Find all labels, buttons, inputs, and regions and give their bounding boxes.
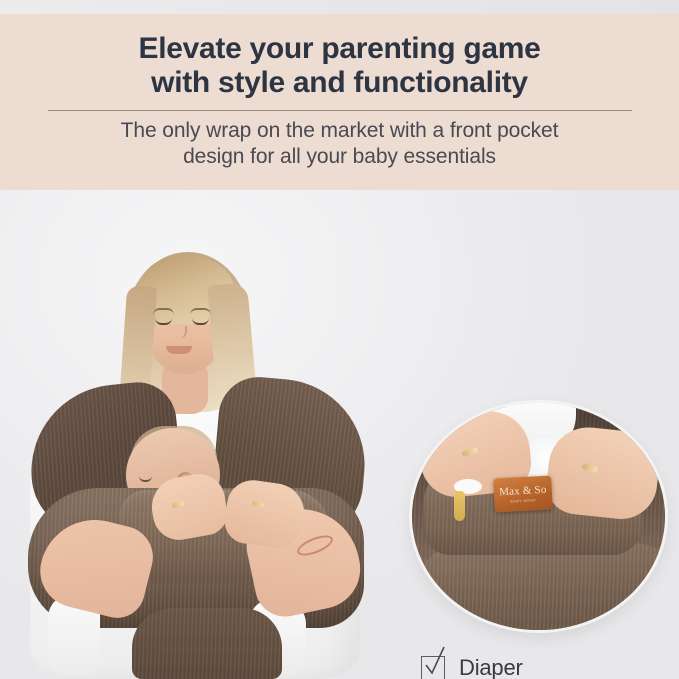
inset-brand-tag: Max & So BABY WRAP bbox=[493, 476, 553, 513]
wrap-drape-tail bbox=[132, 608, 282, 679]
fabric-texture bbox=[132, 608, 282, 679]
headline-line-1: Elevate your parenting game bbox=[138, 32, 540, 65]
inset-brand-tag-sub: BABY WRAP bbox=[510, 498, 536, 503]
inset-wrap-band bbox=[412, 543, 665, 630]
header-divider bbox=[48, 110, 632, 111]
mother-and-baby-photo: Max & So BABY WRAP bbox=[0, 190, 400, 679]
header-banner: Elevate your parenting game with style a… bbox=[0, 14, 679, 190]
checklist-item-diaper[interactable]: Diaper bbox=[421, 645, 671, 679]
top-edge-strip bbox=[0, 0, 679, 14]
subheadline-line-2: design for all your baby essentials bbox=[0, 144, 679, 170]
fabric-texture bbox=[412, 543, 665, 630]
mother-eyebrow-left bbox=[153, 308, 174, 315]
headline: Elevate your parenting game with style a… bbox=[0, 32, 679, 99]
subheadline: The only wrap on the market with a front… bbox=[0, 118, 679, 169]
inset-brand-tag-name: Max & So bbox=[499, 484, 547, 497]
product-photo-area: Max & So BABY WRAP Max & So BABY WRAP bbox=[0, 190, 679, 679]
checklist-item-label: Diaper bbox=[459, 655, 523, 679]
essentials-checklist: Diaper Pacifier Toy Baby wipes bbox=[421, 645, 671, 679]
checkbox-checked-icon[interactable] bbox=[421, 656, 445, 679]
subheadline-line-1: The only wrap on the market with a front… bbox=[121, 119, 559, 142]
inset-pacifier-nipple bbox=[454, 491, 465, 521]
headline-line-2: with style and functionality bbox=[0, 66, 679, 100]
product-infographic: Elevate your parenting game with style a… bbox=[0, 0, 679, 679]
pocket-closeup-inset: Max & So BABY WRAP bbox=[412, 403, 665, 630]
mother-mouth bbox=[166, 346, 192, 354]
mother-eyebrow-right bbox=[190, 308, 211, 315]
